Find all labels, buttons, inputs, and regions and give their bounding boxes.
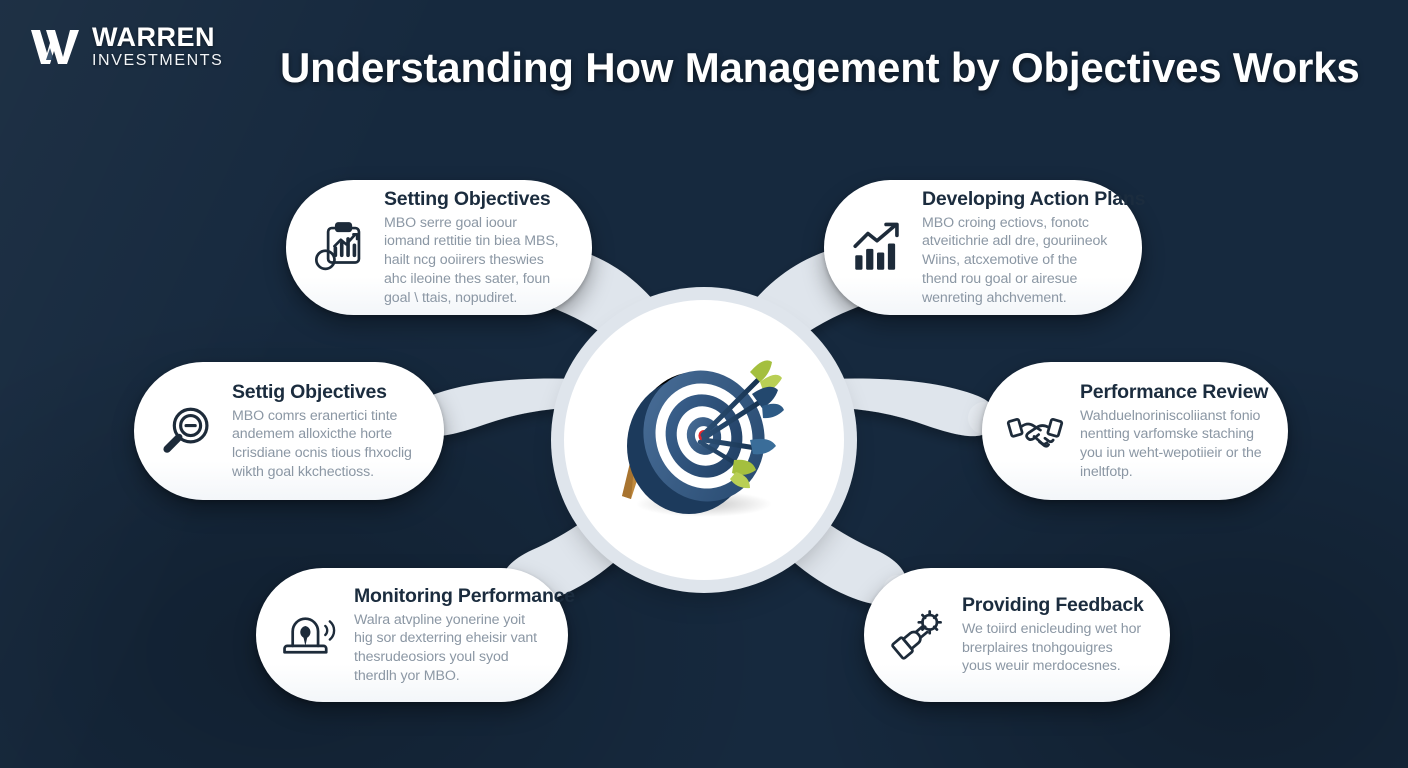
card-description: MBO comrs eranertici tinte andemem allox…	[232, 407, 418, 482]
card-setting-objectives-top[interactable]: Setting Objectives MBO serre goal ioour …	[286, 180, 592, 315]
card-settig-objectives-left[interactable]: Settig Objectives MBO comrs eranertici t…	[134, 362, 444, 500]
card-title: Performance Review	[1080, 381, 1262, 404]
card-content: Settig Objectives MBO comrs eranertici t…	[232, 381, 418, 482]
target-with-arrows-illustration	[600, 336, 808, 544]
card-description: MBO croing ectiovs, fonotc atveitichrie …	[922, 214, 1116, 308]
card-monitoring-performance[interactable]: Monitoring Performance Walra atvpline yo…	[256, 568, 568, 702]
card-title: Monitoring Performance	[354, 585, 542, 608]
magnifying-glass-icon	[156, 400, 218, 462]
brand-logo: WARREN INVESTMENTS	[30, 24, 223, 69]
card-content: Monitoring Performance Walra atvpline yo…	[354, 585, 542, 686]
card-description: Walra atvpline yonerine yoit hig sor dex…	[354, 611, 542, 686]
brand-name: WARREN	[92, 24, 223, 51]
card-title: Setting Objectives	[384, 188, 566, 211]
handshake-icon	[1004, 400, 1066, 462]
brand-subtitle: INVESTMENTS	[92, 53, 223, 69]
card-description: We toiird enicleuding wet hor brerplaire…	[962, 620, 1144, 676]
card-content: Performance Review Wahduelnoriniscoliian…	[1080, 381, 1262, 482]
center-hub	[564, 300, 844, 580]
infographic-canvas: WARREN INVESTMENTS Understanding How Man…	[0, 0, 1408, 768]
plug-gear-icon	[886, 604, 948, 666]
card-title: Developing Action Plans	[922, 188, 1116, 211]
card-content: Providing Feedback We toiird enicleuding…	[962, 594, 1144, 676]
clipboard-chart-icon	[308, 217, 370, 279]
bar-chart-growth-icon	[846, 217, 908, 279]
page-title: Understanding How Management by Objectiv…	[280, 44, 1200, 92]
card-providing-feedback[interactable]: Providing Feedback We toiird enicleuding…	[864, 568, 1170, 702]
card-performance-review[interactable]: Performance Review Wahduelnoriniscoliian…	[982, 362, 1288, 500]
card-content: Setting Objectives MBO serre goal ioour …	[384, 188, 566, 308]
card-description: MBO serre goal ioour iomand rettitie tin…	[384, 214, 566, 308]
card-developing-action-plans[interactable]: Developing Action Plans MBO croing ectio…	[824, 180, 1142, 315]
card-description: Wahduelnoriniscoliianst fonio nentting v…	[1080, 407, 1262, 482]
card-title: Settig Objectives	[232, 381, 418, 404]
warren-w-monogram-icon	[30, 28, 82, 66]
card-content: Developing Action Plans MBO croing ectio…	[922, 188, 1116, 308]
siren-signal-icon	[278, 604, 340, 666]
card-title: Providing Feedback	[962, 594, 1144, 617]
